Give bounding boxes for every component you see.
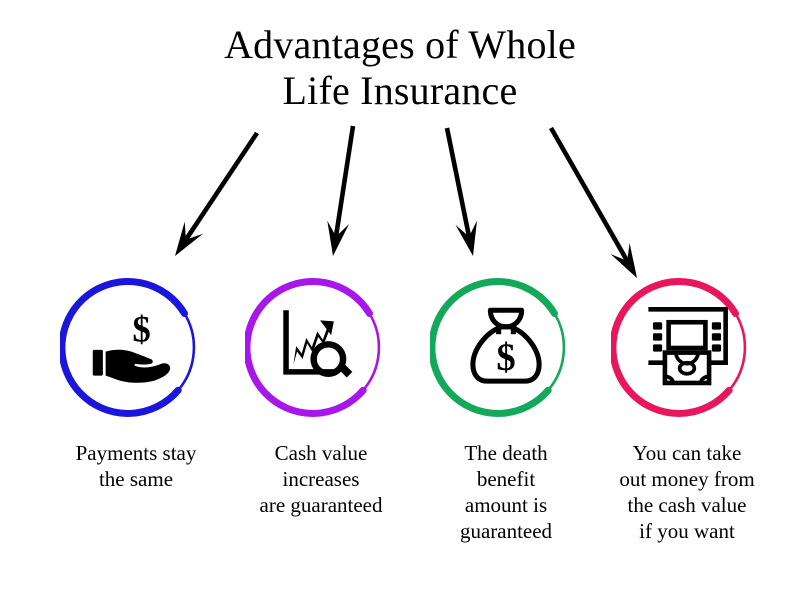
advantage-item-3: $ The death benefit amount is guaranteed — [406, 272, 606, 544]
money-bag-dollar-icon: $ — [460, 302, 552, 394]
advantage-item-1: $ Payments stay the same — [36, 272, 236, 492]
arrow-to-item-1-head — [175, 222, 203, 256]
icon-circle-2 — [245, 272, 397, 424]
atm-cash-icon — [641, 302, 733, 394]
advantage-caption-2: Cash value increases are guaranteed — [221, 440, 421, 518]
advantage-caption-3: The death benefit amount is guaranteed — [406, 440, 606, 544]
arrow-to-item-2-shaft — [336, 126, 353, 238]
icon-circle-4 — [611, 272, 763, 424]
chart-magnifier-icon — [275, 302, 367, 394]
arrow-to-item-4-shaft — [551, 128, 628, 262]
svg-text:$: $ — [496, 337, 515, 379]
arrow-to-item-3-shaft — [447, 128, 469, 238]
page-title: Advantages of Whole Life Insurance — [0, 22, 800, 114]
icon-circle-1: $ — [60, 272, 212, 424]
arrow-to-item-2-head — [327, 221, 349, 256]
advantage-caption-1: Payments stay the same — [36, 440, 236, 492]
advantage-item-4: You can take out money from the cash val… — [587, 272, 787, 544]
svg-text:$: $ — [132, 309, 150, 350]
hand-holding-dollar-icon: $ — [90, 302, 182, 394]
advantage-item-2: Cash value increases are guaranteed — [221, 272, 421, 518]
icon-circle-3: $ — [430, 272, 582, 424]
arrow-to-item-1-shaft — [185, 133, 257, 240]
advantage-caption-4: You can take out money from the cash val… — [587, 440, 787, 544]
infographic-root: Advantages of Whole Life Insurance $ — [0, 0, 800, 600]
arrow-to-item-3-head — [456, 221, 478, 257]
